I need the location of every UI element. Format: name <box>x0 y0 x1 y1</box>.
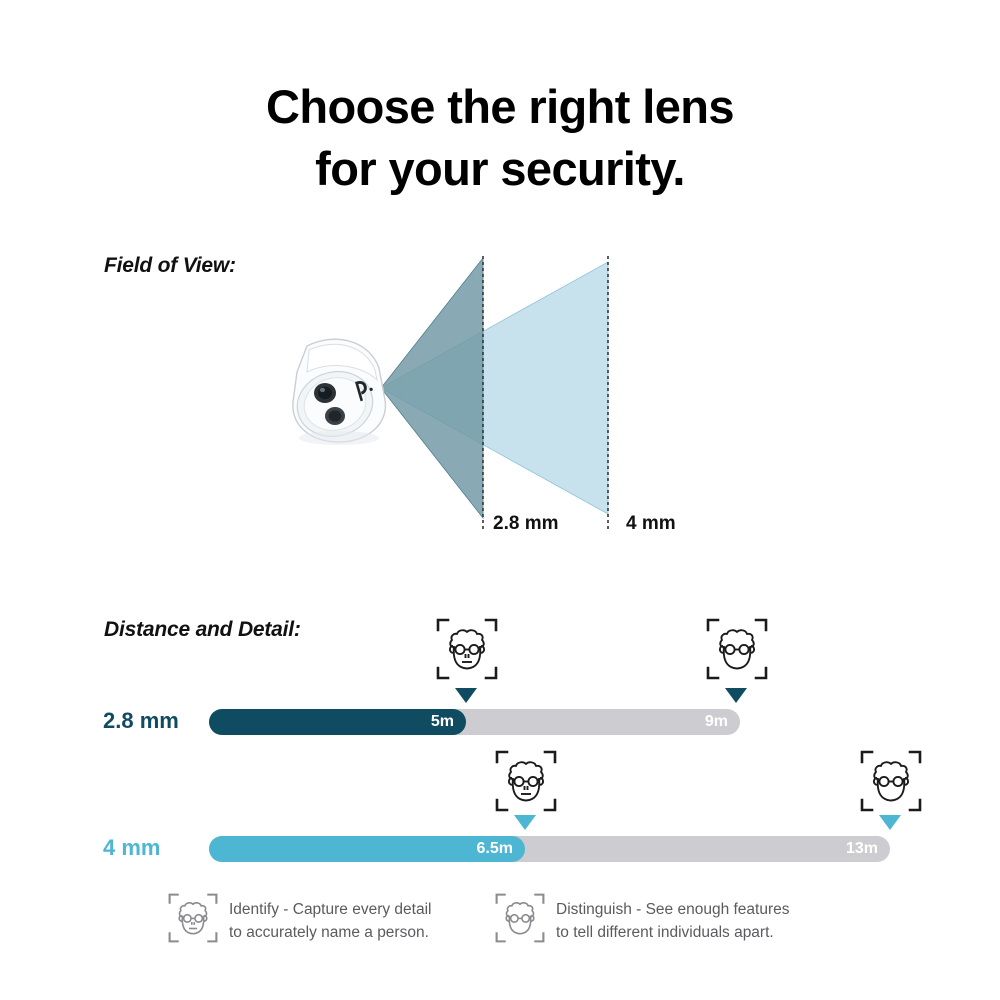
page-title: Choose the right lens for your security. <box>0 76 1000 200</box>
legend-item-identify: Identify - Capture every detail to accur… <box>168 893 218 948</box>
face-simple-icon <box>860 750 922 812</box>
distance-fill-2.8mm: 5m <box>209 709 466 735</box>
legend-text-distinguish: Distinguish - See enough features to tel… <box>556 898 790 944</box>
title-line-1: Choose the right lens <box>0 76 1000 138</box>
cone-2.8mm <box>381 258 483 518</box>
distance-value-4mm-identify: 6.5m <box>477 836 513 862</box>
face-simple-icon <box>495 893 545 943</box>
legend-distinguish-line-1: Distinguish - See enough features <box>556 898 790 921</box>
face-detailed-icon <box>168 893 218 943</box>
legend-item-distinguish: Distinguish - See enough features to tel… <box>495 893 545 948</box>
distance-value-4mm-distinguish: 13m <box>846 836 878 862</box>
row-label-2.8mm: 2.8 mm <box>103 708 179 734</box>
distance-fill-4mm: 6.5m <box>209 836 525 862</box>
face-detailed-icon <box>495 750 557 812</box>
fov-label-4mm: 4 mm <box>626 513 676 535</box>
fov-label-2.8mm: 2.8 mm <box>493 513 558 535</box>
title-line-2: for your security. <box>0 138 1000 200</box>
legend-text-identify: Identify - Capture every detail to accur… <box>229 898 431 944</box>
infographic-canvas: Choose the right lens for your security.… <box>0 0 1000 1000</box>
marker-2.8mm-distinguish <box>725 688 747 703</box>
distance-value-2.8mm-distinguish: 9m <box>705 709 728 735</box>
marker-4mm-identify <box>514 815 536 830</box>
field-of-view-diagram <box>0 240 1000 550</box>
security-camera-icon <box>290 339 385 445</box>
distance-and-detail-heading: Distance and Detail: <box>104 618 301 642</box>
face-detailed-icon <box>436 618 498 680</box>
legend-identify-line-2: to accurately name a person. <box>229 921 431 944</box>
face-simple-icon <box>706 618 768 680</box>
row-label-4mm: 4 mm <box>103 835 160 861</box>
legend-identify-line-1: Identify - Capture every detail <box>229 898 431 921</box>
marker-2.8mm-identify <box>455 688 477 703</box>
distance-value-2.8mm-identify: 5m <box>431 709 454 735</box>
marker-4mm-distinguish <box>879 815 901 830</box>
legend-distinguish-line-2: to tell different individuals apart. <box>556 921 790 944</box>
